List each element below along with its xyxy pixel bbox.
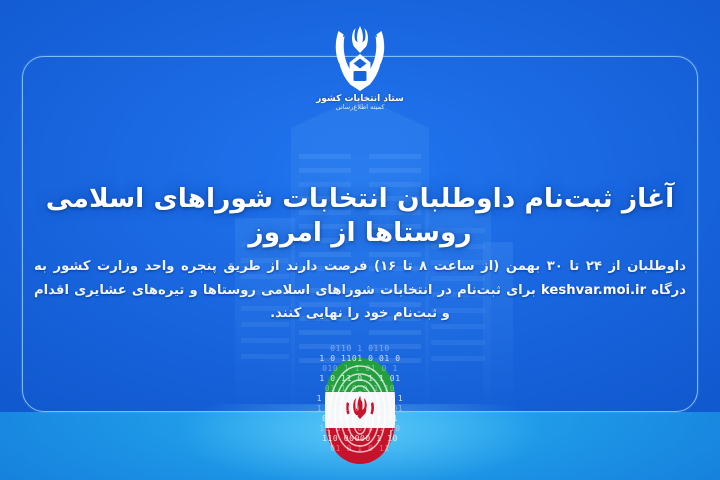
emblem-subcaption: کمیته اطلاع‌رسانی — [306, 104, 414, 112]
emblem-icon — [324, 22, 396, 92]
body-text-part2: برای ثبت‌نام در انتخابات شوراهای اسلامی … — [34, 283, 541, 322]
page-title: آغاز ثبت‌نام داوطلبان انتخابات شوراهای ا… — [0, 182, 720, 250]
registration-portal-url[interactable]: keshvar.moi.ir — [541, 279, 646, 303]
election-announcement-poster: ستاد انتخابات کشور کمیته اطلاع‌رسانی آغا… — [0, 0, 720, 480]
background-lower-band — [0, 412, 720, 480]
election-headquarters-emblem: ستاد انتخابات کشور کمیته اطلاع‌رسانی — [306, 22, 414, 122]
announcement-body-text: داوطلبان از ۲۴ تا ۳۰ بهمن (از ساعت ۸ تا … — [0, 255, 720, 326]
